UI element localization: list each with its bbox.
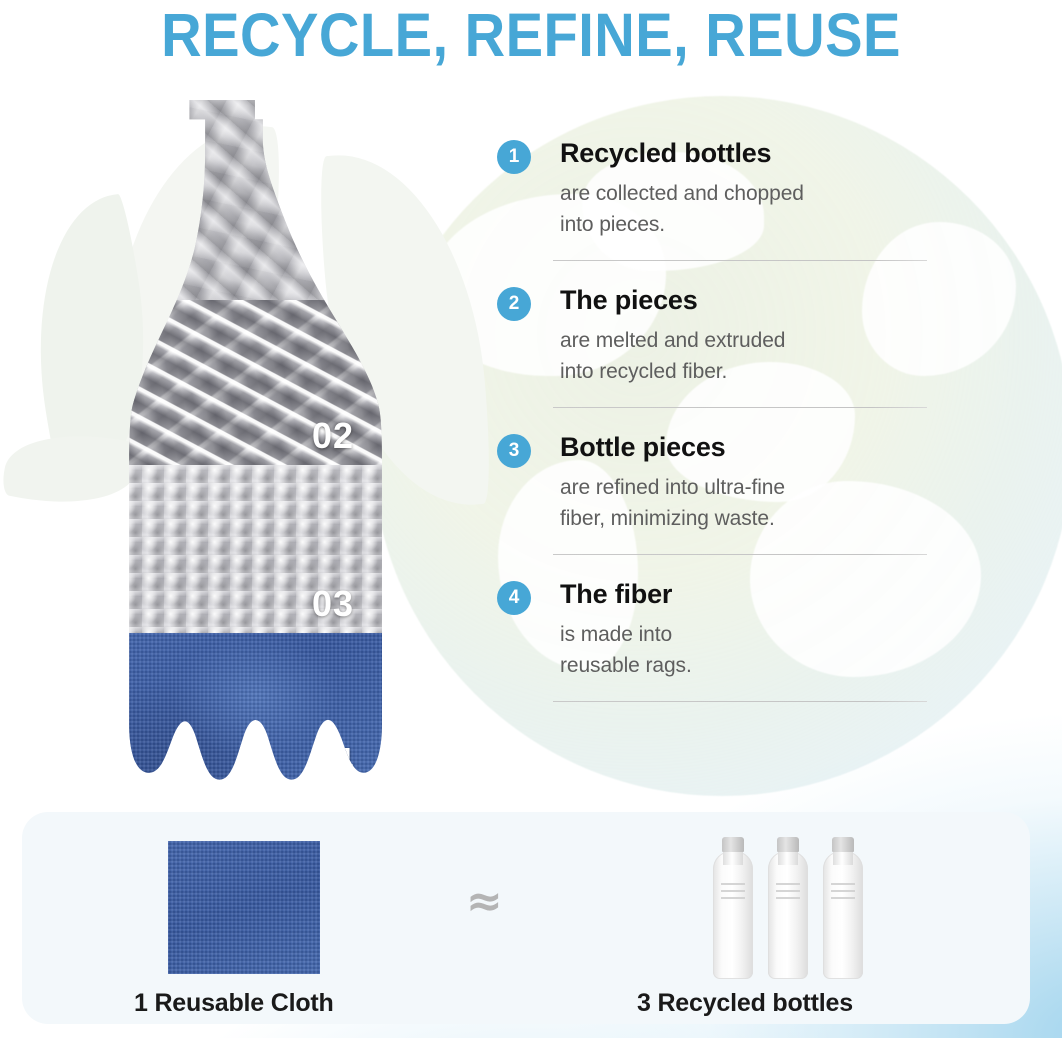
page-title: RECYCLE, REFINE, REUSE <box>42 2 1019 68</box>
cloth-label: 1 Reusable Cloth <box>134 989 334 1018</box>
segment-number-label: 02 <box>312 415 354 457</box>
bottle-segment-02: 02 <box>120 300 382 465</box>
step-title: Recycled bottles <box>560 136 927 170</box>
recycled-bottles-group <box>712 837 872 979</box>
bottle-icon <box>712 837 754 979</box>
steps-list: 1 Recycled bottles are collected and cho… <box>497 136 927 702</box>
step-number-badge: 4 <box>497 581 531 615</box>
segment-number-label: 01 <box>312 250 354 292</box>
segment-number-label: 03 <box>312 583 354 625</box>
spacer <box>497 261 927 283</box>
step-item-2: 2 The pieces are melted and extruded int… <box>497 283 927 387</box>
step-number-badge: 3 <box>497 434 531 468</box>
step-number-badge: 2 <box>497 287 531 321</box>
step-divider <box>553 701 927 702</box>
step-body: are refined into ultra-fine fiber, minim… <box>560 472 927 534</box>
approximately-equal-icon: ≈ <box>466 880 503 924</box>
step-item-3: 3 Bottle pieces are refined into ultra-f… <box>497 430 927 534</box>
step-body: are melted and extruded into recycled fi… <box>560 325 927 387</box>
step-title: The fiber <box>560 577 927 611</box>
bottles-label: 3 Recycled bottles <box>637 989 853 1018</box>
step-body: are collected and chopped into pieces. <box>560 178 927 240</box>
spacer <box>497 555 927 577</box>
step-item-1: 1 Recycled bottles are collected and cho… <box>497 136 927 240</box>
bottle-segment-04: 04 <box>120 633 382 790</box>
step-title: Bottle pieces <box>560 430 927 464</box>
bottle-icon <box>822 837 864 979</box>
step-title: The pieces <box>560 283 927 317</box>
reusable-cloth-swatch <box>168 841 320 974</box>
spacer <box>497 408 927 430</box>
step-item-4: 4 The fiber is made into reusable rags. <box>497 577 927 681</box>
bottle-segment-01: 01 <box>120 100 382 300</box>
equivalence-card: 1 Reusable Cloth 3 Recycled bottles <box>22 812 1030 1024</box>
bottle-stage-graphic: 01 02 03 04 <box>120 100 382 790</box>
step-number-badge: 1 <box>497 140 531 174</box>
infographic-page: RECYCLE, REFINE, REUSE 01 02 03 04 1 Rec… <box>0 0 1062 1038</box>
bottle-icon <box>767 837 809 979</box>
step-body: is made into reusable rags. <box>560 619 927 681</box>
bottle-segment-03: 03 <box>120 465 382 633</box>
segment-number-label: 04 <box>312 740 354 782</box>
